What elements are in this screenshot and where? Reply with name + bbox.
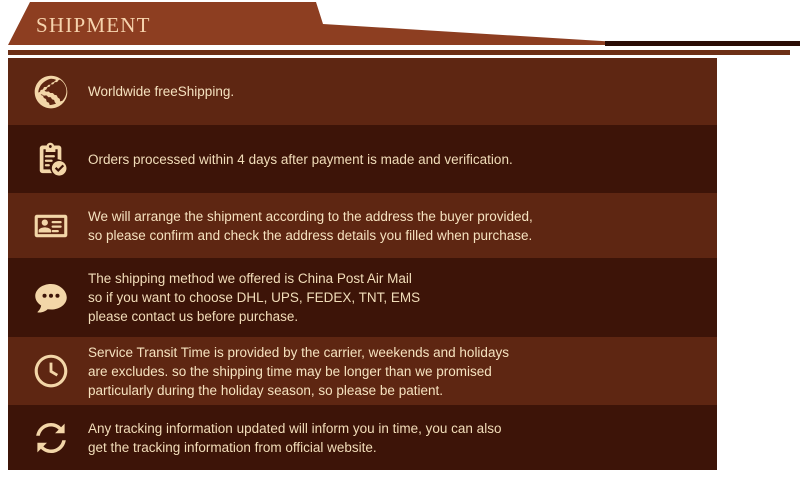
shipment-row-order-processing: Orders processed within 4 days after pay… bbox=[8, 125, 717, 193]
shipment-row-text: Worldwide freeShipping. bbox=[82, 82, 234, 101]
shipment-row-worldwide-shipping: Worldwide freeShipping. bbox=[8, 58, 717, 125]
header-rail-dark bbox=[605, 41, 800, 46]
header-underline bbox=[8, 50, 790, 55]
shipment-header: SHIPMENT bbox=[0, 0, 800, 58]
sync-arrows-icon bbox=[20, 420, 82, 456]
page-title: SHIPMENT bbox=[36, 13, 151, 38]
shipment-row-shipping-method: The shipping method we offered is China … bbox=[8, 258, 717, 337]
shipment-row-text: Orders processed within 4 days after pay… bbox=[82, 150, 513, 169]
shipment-row-text: Service Transit Time is provided by the … bbox=[82, 343, 509, 400]
globe-icon bbox=[20, 74, 82, 110]
shipment-row-tracking-info: Any tracking information updated will in… bbox=[8, 405, 717, 470]
shipment-row-address-confirmation: We will arrange the shipment according t… bbox=[8, 193, 717, 258]
shipment-info-panel: Worldwide freeShipping. Orders processed… bbox=[8, 58, 717, 470]
id-card-icon bbox=[20, 208, 82, 244]
shipment-row-text: Any tracking information updated will in… bbox=[82, 419, 501, 457]
clock-icon bbox=[20, 353, 82, 389]
speech-bubble-icon bbox=[20, 280, 82, 316]
clipboard-check-icon bbox=[20, 141, 82, 177]
shipment-row-transit-time: Service Transit Time is provided by the … bbox=[8, 337, 717, 405]
shipment-row-text: The shipping method we offered is China … bbox=[82, 269, 420, 326]
shipment-row-text: We will arrange the shipment according t… bbox=[82, 207, 533, 245]
